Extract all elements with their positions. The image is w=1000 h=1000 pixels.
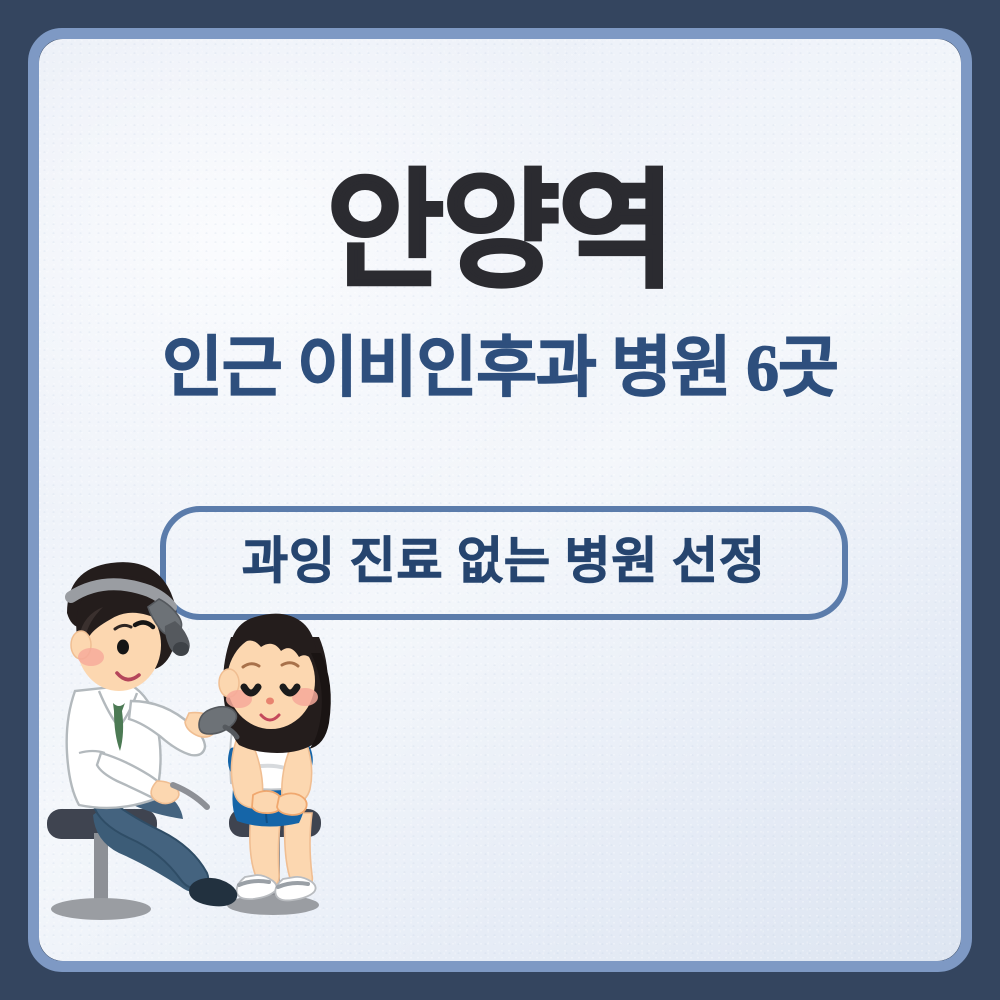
poster-root: 안양역 인근 이비인후과 병원 6곳 과잉 진료 없는 병원 선정 — [0, 0, 1000, 1000]
girl-patient — [219, 614, 331, 901]
otoscope — [199, 707, 237, 737]
page-subtitle: 인근 이비인후과 병원 6곳 — [0, 336, 1000, 402]
doctor — [67, 562, 238, 906]
ent-illustration — [39, 541, 439, 961]
page-title: 안양역 — [0, 168, 1000, 296]
